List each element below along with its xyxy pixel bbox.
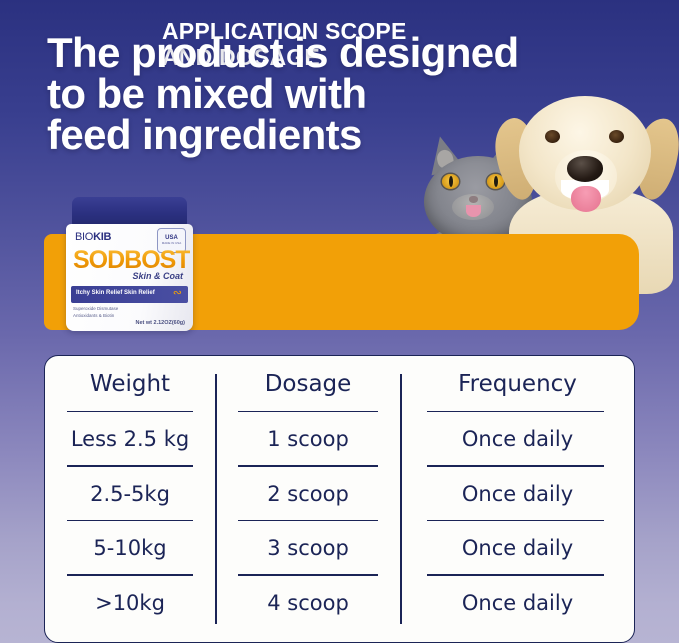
table-row: 2 scoop — [216, 467, 400, 522]
dog-nose-icon — [567, 156, 603, 182]
table-header-frequency: Frequency — [401, 356, 634, 412]
product-jar-image: BIOKIB USA MADE IN USA SODBOST Skin & Co… — [63, 197, 196, 331]
brand-prefix: BIO — [75, 231, 93, 243]
cell-weight: >10kg — [95, 591, 165, 615]
brand-suffix: KIB — [93, 231, 111, 243]
table-header-weight: Weight — [45, 356, 215, 412]
table-column-dosage: Dosage 1 scoop 2 scoop 3 scoop 4 scoop — [216, 356, 400, 642]
jar-lid — [72, 197, 187, 227]
table-column-frequency: Frequency Once daily Once daily Once dai… — [401, 356, 634, 642]
table-row: Once daily — [401, 521, 634, 576]
table-row: 5-10kg — [45, 521, 215, 576]
dosage-table: Weight Less 2.5 kg 2.5-5kg 5-10kg >10kg … — [44, 355, 635, 643]
product-subtitle: Skin & Coat — [132, 271, 183, 281]
cell-frequency: Once daily — [462, 482, 573, 506]
table-row: Once daily — [401, 467, 634, 522]
brand-name: BIOKIB — [75, 231, 111, 243]
cat-left-eye-icon — [442, 174, 459, 189]
cell-frequency: Once daily — [462, 427, 573, 451]
cell-dosage: 3 scoop — [267, 536, 349, 560]
table-column-weight: Weight Less 2.5 kg 2.5-5kg 5-10kg >10kg — [45, 356, 215, 642]
table-row: 4 scoop — [216, 576, 400, 631]
cell-dosage: 2 scoop — [267, 482, 349, 506]
table-row: Once daily — [401, 412, 634, 467]
table-header-dosage-label: Dosage — [265, 371, 352, 397]
cell-frequency: Once daily — [462, 536, 573, 560]
product-claim: Itchy Skin Relief Skin Relief — [76, 290, 155, 296]
product-claim-strip: Itchy Skin Relief Skin Relief ∾ — [71, 286, 188, 303]
cat-nose-icon — [469, 196, 478, 203]
table-row: 1 scoop — [216, 412, 400, 467]
product-ingredients: Superoxide Dismutase Antioxidants & Biot… — [73, 306, 118, 320]
cell-dosage: 4 scoop — [267, 591, 349, 615]
table-row: Less 2.5 kg — [45, 412, 215, 467]
cell-weight: 2.5-5kg — [90, 482, 170, 506]
product-infographic: The product is designed to be mixed with… — [0, 0, 679, 643]
table-header-weight-label: Weight — [90, 371, 170, 397]
swirl-icon: ∾ — [173, 288, 182, 299]
table-header-frequency-label: Frequency — [458, 371, 577, 397]
table-row: >10kg — [45, 576, 215, 631]
jar-label: BIOKIB USA MADE IN USA SODBOST Skin & Co… — [66, 224, 193, 331]
dog-tongue-icon — [571, 186, 601, 212]
cell-dosage: 1 scoop — [267, 427, 349, 451]
page-title: The product is designed to be mixed with… — [47, 32, 607, 155]
table-row: Once daily — [401, 576, 634, 631]
table-row: 2.5-5kg — [45, 467, 215, 522]
cell-weight: 5-10kg — [93, 536, 166, 560]
product-net-weight: Net wt 2.12OZ(60g) — [135, 320, 185, 326]
dog-right-eye-icon — [609, 130, 624, 143]
cat-mouth — [466, 205, 481, 217]
cell-frequency: Once daily — [462, 591, 573, 615]
table-header-dosage: Dosage — [216, 356, 400, 412]
cell-weight: Less 2.5 kg — [71, 427, 189, 451]
table-row: 3 scoop — [216, 521, 400, 576]
